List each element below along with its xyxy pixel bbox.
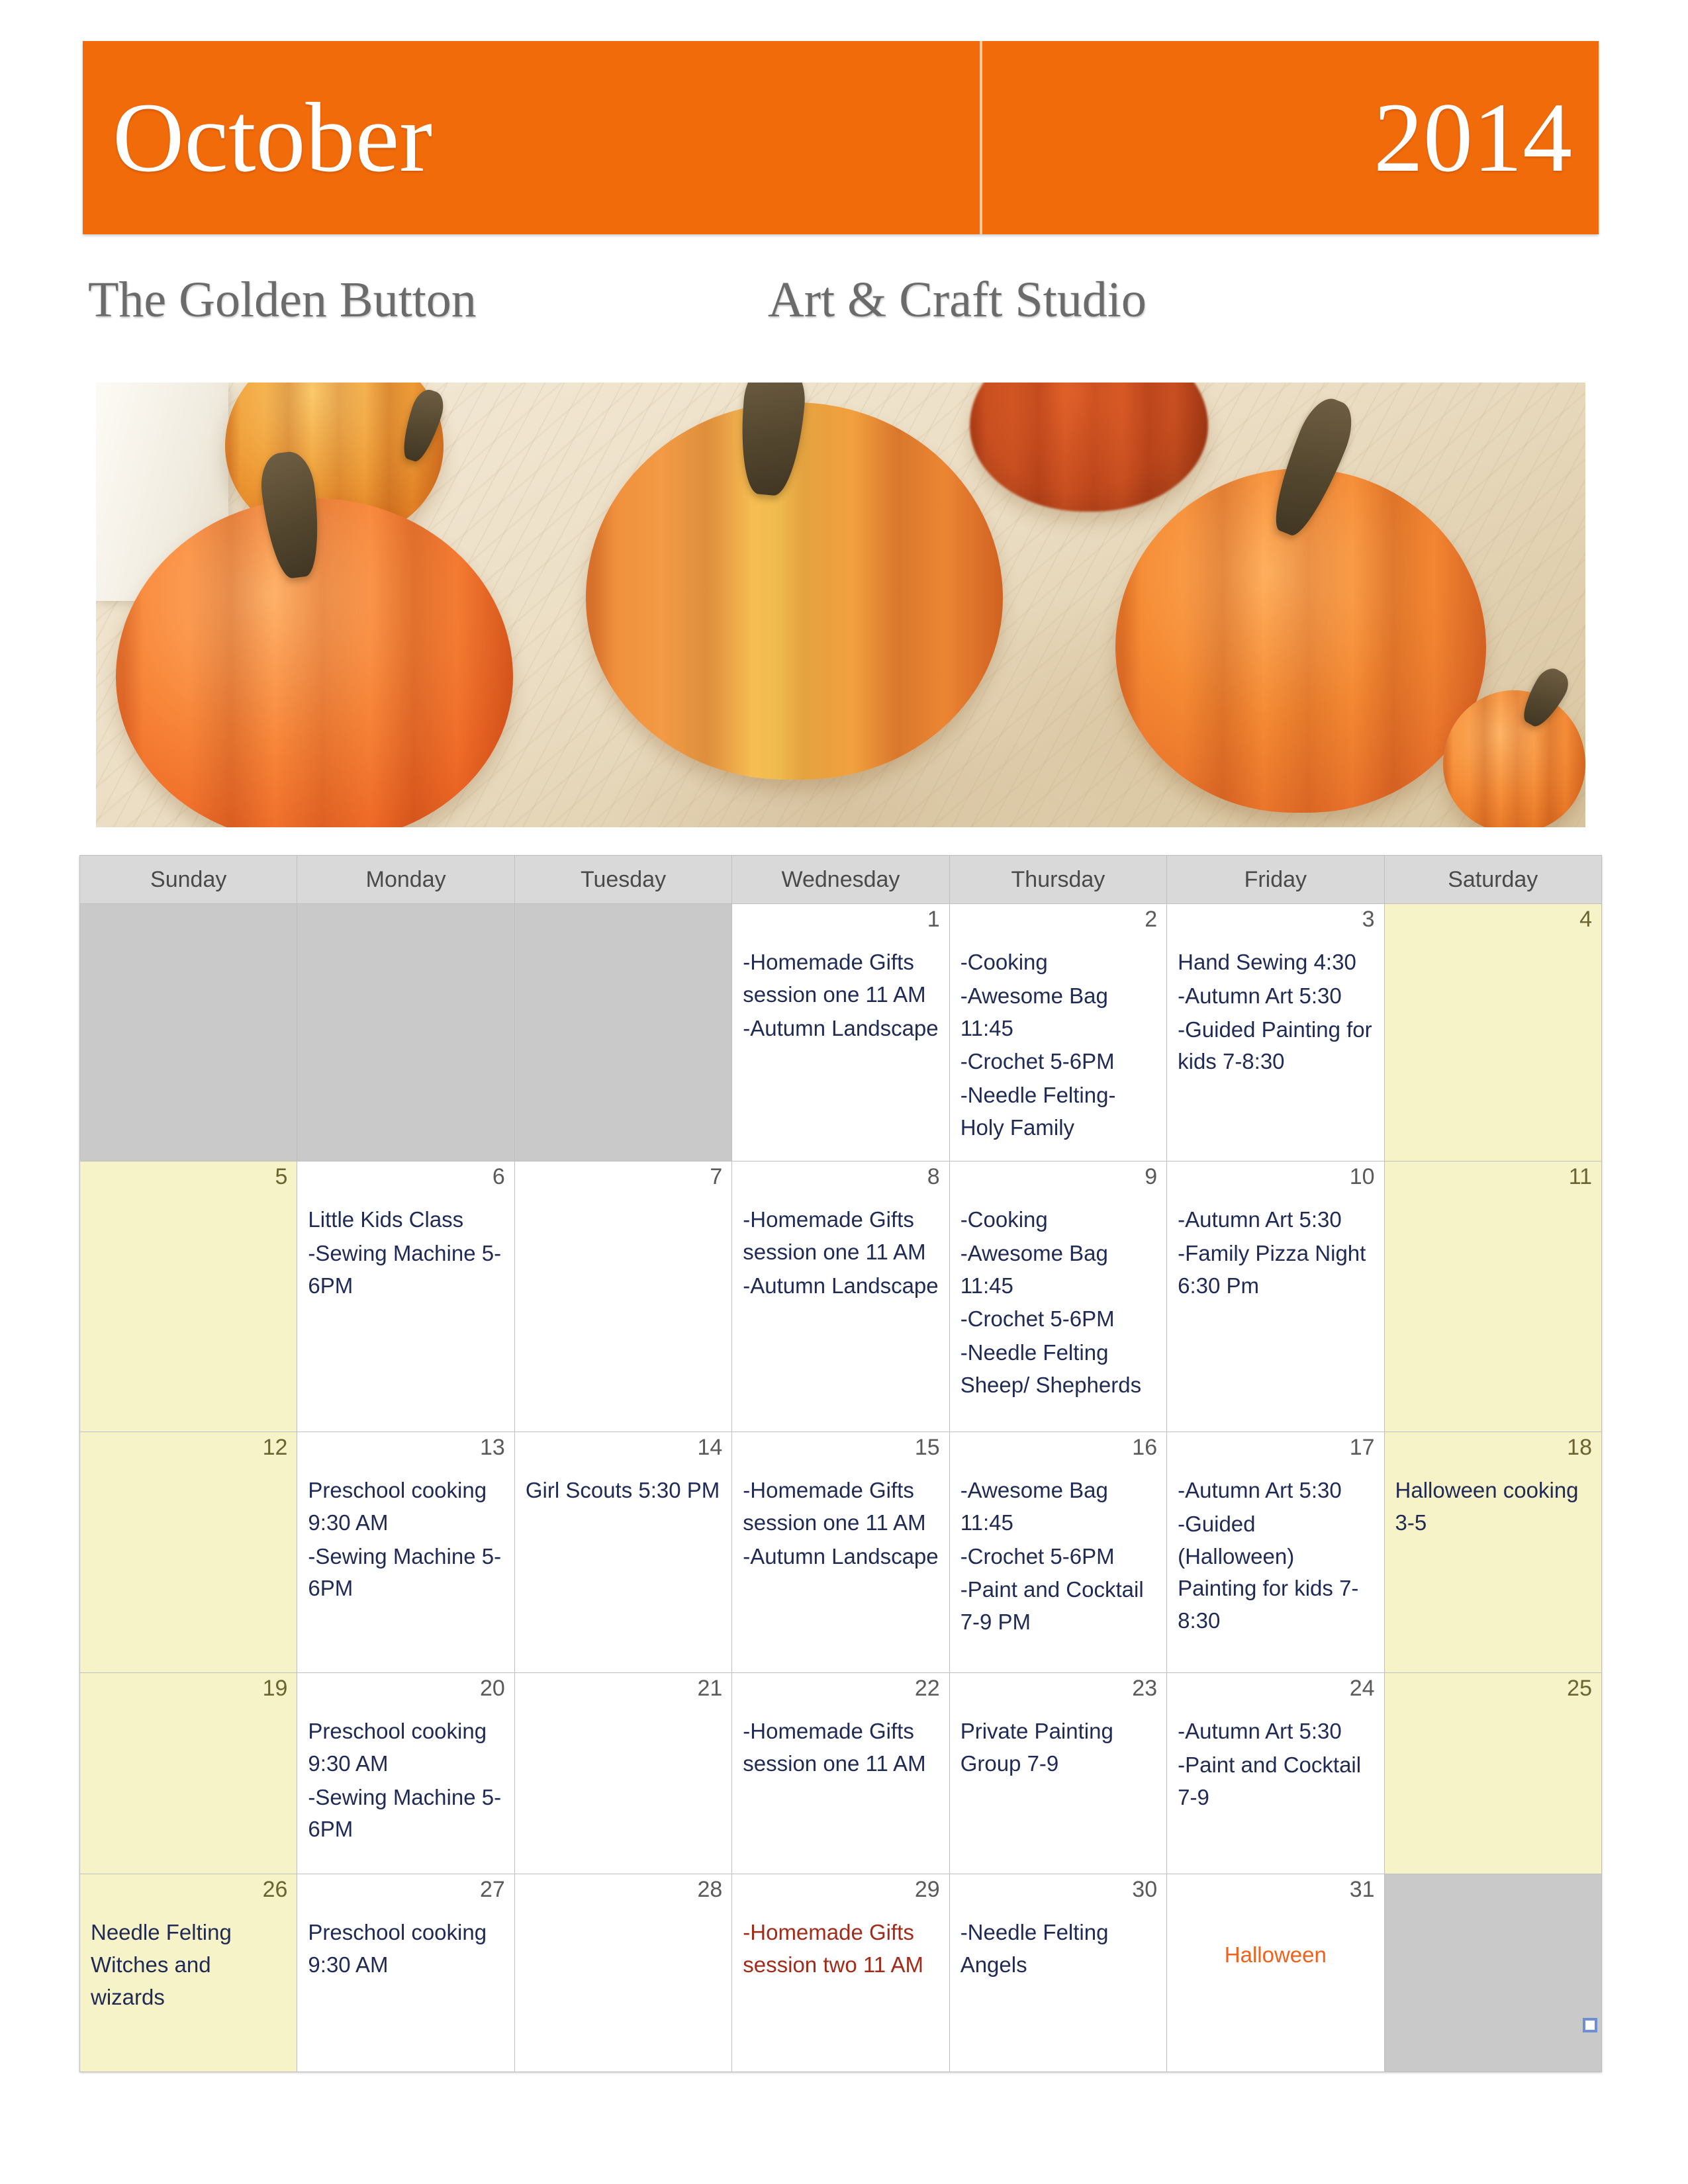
event-item: -Awesome Bag 11:45 bbox=[961, 1475, 1156, 1539]
event-item: Little Kids Class bbox=[308, 1204, 503, 1236]
pumpkin-photo bbox=[96, 383, 1585, 827]
day-cell-21[interactable] bbox=[514, 1709, 731, 1874]
event-item: -Homemade Gifts session one 11 AM bbox=[743, 1204, 938, 1269]
day-number-1[interactable]: 1 bbox=[732, 904, 949, 940]
event-item: -Guided (Halloween) Painting for kids 7-… bbox=[1178, 1508, 1373, 1637]
event-item: -Awesome Bag 11:45 bbox=[961, 980, 1156, 1045]
weekday-header-thursday: Thursday bbox=[949, 856, 1166, 904]
event-item: -Needle Felting Sheep/ Shepherds bbox=[961, 1337, 1156, 1402]
event-item: Preschool cooking 9:30 AM bbox=[308, 1715, 503, 1780]
week-number-row: 19202122232425 bbox=[80, 1673, 1602, 1709]
day-number-20[interactable]: 20 bbox=[297, 1673, 514, 1709]
day-number-empty bbox=[1384, 1874, 1601, 1911]
day-cell-22[interactable]: -Homemade Gifts session one 11 AM bbox=[732, 1709, 949, 1874]
day-number-19[interactable]: 19 bbox=[80, 1673, 297, 1709]
event-item: -Autumn Art 5:30 bbox=[1178, 980, 1373, 1013]
week-number-row: 1234 bbox=[80, 904, 1602, 940]
studio-name: The Golden Button bbox=[88, 275, 477, 325]
studio-headline: The Golden Button Art & Craft Studio bbox=[83, 263, 1599, 336]
day-number-9[interactable]: 9 bbox=[949, 1161, 1166, 1198]
day-cell-10[interactable]: -Autumn Art 5:30-Family Pizza Night 6:30… bbox=[1167, 1197, 1384, 1432]
event-item: -Homemade Gifts session one 11 AM bbox=[743, 1475, 938, 1539]
day-number-13[interactable]: 13 bbox=[297, 1432, 514, 1469]
day-cell-18[interactable]: Halloween cooking 3-5 bbox=[1384, 1468, 1601, 1673]
weekday-header-wednesday: Wednesday bbox=[732, 856, 949, 904]
week-number-row: 262728293031 bbox=[80, 1874, 1602, 1911]
calendar-page: October 2014 The Golden Button Art & Cra… bbox=[0, 0, 1688, 2184]
day-cell-empty bbox=[514, 940, 731, 1161]
day-number-12[interactable]: 12 bbox=[80, 1432, 297, 1469]
event-item: -Sewing Machine 5-6PM bbox=[308, 1541, 503, 1606]
day-number-30[interactable]: 30 bbox=[949, 1874, 1166, 1911]
event-item: -Cooking bbox=[961, 946, 1156, 979]
event-item: -Sewing Machine 5-6PM bbox=[308, 1782, 503, 1846]
day-number-27[interactable]: 27 bbox=[297, 1874, 514, 1911]
event-item: -Awesome Bag 11:45 bbox=[961, 1238, 1156, 1302]
event-item: Halloween bbox=[1178, 1939, 1373, 1972]
event-item: -Needle Felting-Holy Family bbox=[961, 1079, 1156, 1144]
day-number-14[interactable]: 14 bbox=[514, 1432, 731, 1469]
day-number-31[interactable]: 31 bbox=[1167, 1874, 1384, 1911]
day-number-3[interactable]: 3 bbox=[1167, 904, 1384, 940]
day-cell-6[interactable]: Little Kids Class-Sewing Machine 5-6PM bbox=[297, 1197, 514, 1432]
day-number-7[interactable]: 7 bbox=[514, 1161, 731, 1198]
day-number-5[interactable]: 5 bbox=[80, 1161, 297, 1198]
calendar-body: 1234-Homemade Gifts session one 11 AM-Au… bbox=[80, 904, 1602, 2072]
event-item: Preschool cooking 9:30 AM bbox=[308, 1917, 503, 1981]
day-cell-empty bbox=[297, 940, 514, 1161]
day-cell-empty bbox=[1384, 1910, 1601, 2072]
day-cell-30[interactable]: -Needle Felting Angels bbox=[949, 1910, 1166, 2072]
event-item: Hand Sewing 4:30 bbox=[1178, 946, 1373, 979]
day-cell-2[interactable]: -Cooking-Awesome Bag 11:45-Crochet 5-6PM… bbox=[949, 940, 1166, 1161]
day-cell-16[interactable]: -Awesome Bag 11:45-Crochet 5-6PM-Paint a… bbox=[949, 1468, 1166, 1673]
day-cell-11[interactable] bbox=[1384, 1197, 1601, 1432]
day-cell-31[interactable]: Halloween bbox=[1167, 1910, 1384, 2072]
day-number-empty bbox=[297, 904, 514, 940]
week-events-row: Preschool cooking 9:30 AM-Sewing Machine… bbox=[80, 1468, 1602, 1673]
event-item: -Autumn Landscape bbox=[743, 1270, 938, 1302]
day-cell-20[interactable]: Preschool cooking 9:30 AM-Sewing Machine… bbox=[297, 1709, 514, 1874]
event-item: -Homemade Gifts session one 11 AM bbox=[743, 946, 938, 1011]
day-cell-15[interactable]: -Homemade Gifts session one 11 AM-Autumn… bbox=[732, 1468, 949, 1673]
event-item: -Autumn Landscape bbox=[743, 1541, 938, 1573]
day-cell-23[interactable]: Private Painting Group 7-9 bbox=[949, 1709, 1166, 1874]
event-item: -Paint and Cocktail 7-9 bbox=[1178, 1749, 1373, 1814]
event-item: -Needle Felting Angels bbox=[961, 1917, 1156, 1981]
day-number-23[interactable]: 23 bbox=[949, 1673, 1166, 1709]
day-cell-27[interactable]: Preschool cooking 9:30 AM bbox=[297, 1910, 514, 2072]
weekday-header-sunday: Sunday bbox=[80, 856, 297, 904]
day-number-21[interactable]: 21 bbox=[514, 1673, 731, 1709]
day-cell-5[interactable] bbox=[80, 1197, 297, 1432]
day-cell-17[interactable]: -Autumn Art 5:30-Guided (Halloween) Pain… bbox=[1167, 1468, 1384, 1673]
day-number-26[interactable]: 26 bbox=[80, 1874, 297, 1911]
event-item: Needle Felting Witches and wizards bbox=[91, 1917, 286, 2013]
day-cell-25[interactable] bbox=[1384, 1709, 1601, 1874]
event-item: -Paint and Cocktail 7-9 PM bbox=[961, 1574, 1156, 1639]
day-number-2[interactable]: 2 bbox=[949, 904, 1166, 940]
weekday-header-friday: Friday bbox=[1167, 856, 1384, 904]
day-number-empty bbox=[80, 904, 297, 940]
event-item: -Crochet 5-6PM bbox=[961, 1541, 1156, 1573]
day-number-8[interactable]: 8 bbox=[732, 1161, 949, 1198]
day-number-16[interactable]: 16 bbox=[949, 1432, 1166, 1469]
year-label: 2014 bbox=[1374, 88, 1572, 187]
day-cell-14[interactable]: Girl Scouts 5:30 PM bbox=[514, 1468, 731, 1673]
event-item: -Crochet 5-6PM bbox=[961, 1046, 1156, 1078]
weekday-header-monday: Monday bbox=[297, 856, 514, 904]
day-number-25[interactable]: 25 bbox=[1384, 1673, 1601, 1709]
calendar-grid: Sunday Monday Tuesday Wednesday Thursday… bbox=[79, 855, 1602, 2072]
week-number-row: 567891011 bbox=[80, 1161, 1602, 1198]
week-number-row: 12131415161718 bbox=[80, 1432, 1602, 1469]
day-number-22[interactable]: 22 bbox=[732, 1673, 949, 1709]
event-item: Preschool cooking 9:30 AM bbox=[308, 1475, 503, 1539]
event-item: Halloween cooking 3-5 bbox=[1395, 1475, 1591, 1539]
weekday-header-row: Sunday Monday Tuesday Wednesday Thursday… bbox=[80, 856, 1602, 904]
day-cell-28[interactable] bbox=[514, 1910, 731, 2072]
day-number-6[interactable]: 6 bbox=[297, 1161, 514, 1198]
day-number-11[interactable]: 11 bbox=[1384, 1161, 1601, 1198]
event-item: -Homemade Gifts session one 11 AM bbox=[743, 1715, 938, 1780]
event-item: -Homemade Gifts session two 11 AM bbox=[743, 1917, 938, 1981]
event-item: -Cooking bbox=[961, 1204, 1156, 1236]
day-cell-9[interactable]: -Cooking-Awesome Bag 11:45-Crochet 5-6PM… bbox=[949, 1197, 1166, 1432]
day-number-empty bbox=[514, 904, 731, 940]
day-number-15[interactable]: 15 bbox=[732, 1432, 949, 1469]
event-item: -Autumn Art 5:30 bbox=[1178, 1475, 1373, 1507]
event-item: -Autumn Art 5:30 bbox=[1178, 1204, 1373, 1236]
day-cell-3[interactable]: Hand Sewing 4:30-Autumn Art 5:30-Guided … bbox=[1167, 940, 1384, 1161]
day-number-4[interactable]: 4 bbox=[1384, 904, 1601, 940]
day-cell-13[interactable]: Preschool cooking 9:30 AM-Sewing Machine… bbox=[297, 1468, 514, 1673]
day-cell-7[interactable] bbox=[514, 1197, 731, 1432]
pumpkin-small-front-right bbox=[1443, 690, 1585, 827]
week-events-row: -Homemade Gifts session one 11 AM-Autumn… bbox=[80, 940, 1602, 1161]
weekday-header-saturday: Saturday bbox=[1384, 856, 1601, 904]
day-number-28[interactable]: 28 bbox=[514, 1874, 731, 1911]
month-banner: October 2014 bbox=[83, 41, 1599, 234]
week-events-row: Little Kids Class-Sewing Machine 5-6PM-H… bbox=[80, 1197, 1602, 1432]
event-item: -Crochet 5-6PM bbox=[961, 1303, 1156, 1336]
day-cell-4[interactable] bbox=[1384, 940, 1601, 1161]
day-cell-29[interactable]: -Homemade Gifts session two 11 AM bbox=[732, 1910, 949, 2072]
studio-tagline: Art & Craft Studio bbox=[768, 275, 1147, 325]
event-item: -Autumn Landscape bbox=[743, 1013, 938, 1045]
day-number-24[interactable]: 24 bbox=[1167, 1673, 1384, 1709]
week-events-row: Preschool cooking 9:30 AM-Sewing Machine… bbox=[80, 1709, 1602, 1874]
day-cell-12[interactable] bbox=[80, 1468, 297, 1673]
weekday-header-tuesday: Tuesday bbox=[514, 856, 731, 904]
event-item: -Autumn Art 5:30 bbox=[1178, 1715, 1373, 1748]
banner-left-section: October bbox=[83, 41, 980, 234]
banner-divider bbox=[980, 41, 982, 234]
banner-right-section: 2014 bbox=[982, 41, 1599, 234]
event-item: -Family Pizza Night 6:30 Pm bbox=[1178, 1238, 1373, 1302]
day-cell-24[interactable]: -Autumn Art 5:30-Paint and Cocktail 7-9 bbox=[1167, 1709, 1384, 1874]
day-cell-1[interactable]: -Homemade Gifts session one 11 AM-Autumn… bbox=[732, 940, 949, 1161]
event-item: -Sewing Machine 5-6PM bbox=[308, 1238, 503, 1302]
event-item: Girl Scouts 5:30 PM bbox=[526, 1475, 721, 1507]
event-item: Private Painting Group 7-9 bbox=[961, 1715, 1156, 1780]
day-cell-26[interactable]: Needle Felting Witches and wizards bbox=[80, 1910, 297, 2072]
day-cell-8[interactable]: -Homemade Gifts session one 11 AM-Autumn… bbox=[732, 1197, 949, 1432]
day-cell-empty bbox=[80, 940, 297, 1161]
week-events-row: Needle Felting Witches and wizardsPresch… bbox=[80, 1910, 1602, 2072]
day-cell-19[interactable] bbox=[80, 1709, 297, 1874]
day-number-29[interactable]: 29 bbox=[732, 1874, 949, 1911]
event-item: -Guided Painting for kids 7-8:30 bbox=[1178, 1014, 1373, 1079]
day-number-17[interactable]: 17 bbox=[1167, 1432, 1384, 1469]
day-number-18[interactable]: 18 bbox=[1384, 1432, 1601, 1469]
selection-handle[interactable] bbox=[1583, 2018, 1597, 2032]
day-number-10[interactable]: 10 bbox=[1167, 1161, 1384, 1198]
month-label: October bbox=[113, 88, 432, 187]
